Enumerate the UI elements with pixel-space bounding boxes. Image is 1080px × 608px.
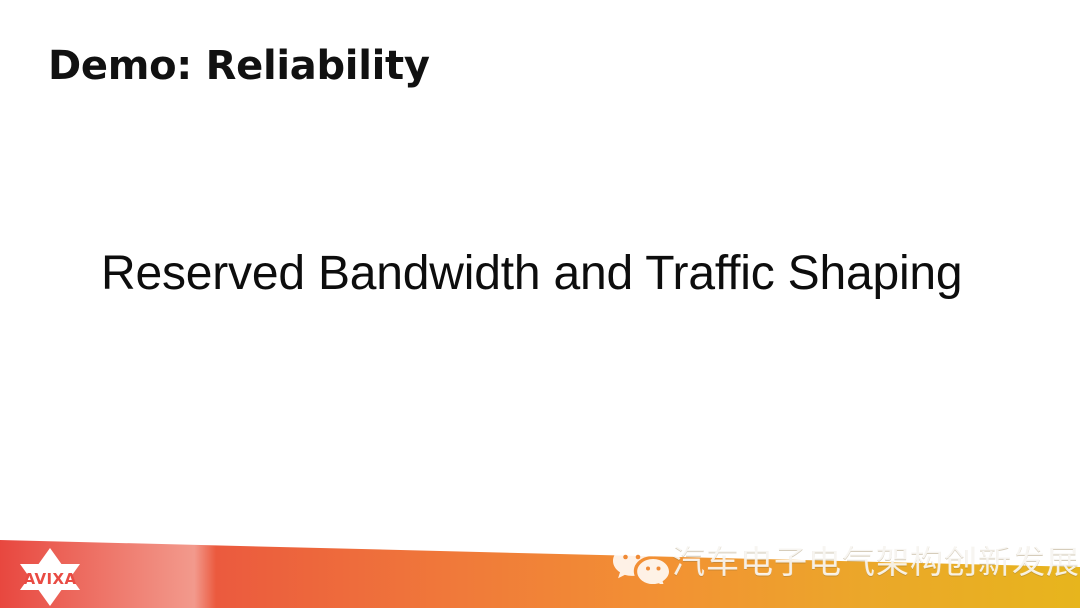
avixa-logo: AVIXA — [12, 546, 88, 608]
svg-text:AVIXA: AVIXA — [24, 570, 77, 588]
slide-body-text: Reserved Bandwidth and Traffic Shaping — [101, 246, 962, 301]
presentation-slide: Demo: Reliability Reserved Bandwidth and… — [0, 0, 1080, 608]
forum-caption: 汽车电子电气架构创新发展论坛 — [672, 545, 1080, 578]
footer-gradient-band — [0, 0, 1080, 608]
wechat-icon — [612, 544, 670, 584]
page-title: Demo: Reliability — [48, 44, 430, 88]
